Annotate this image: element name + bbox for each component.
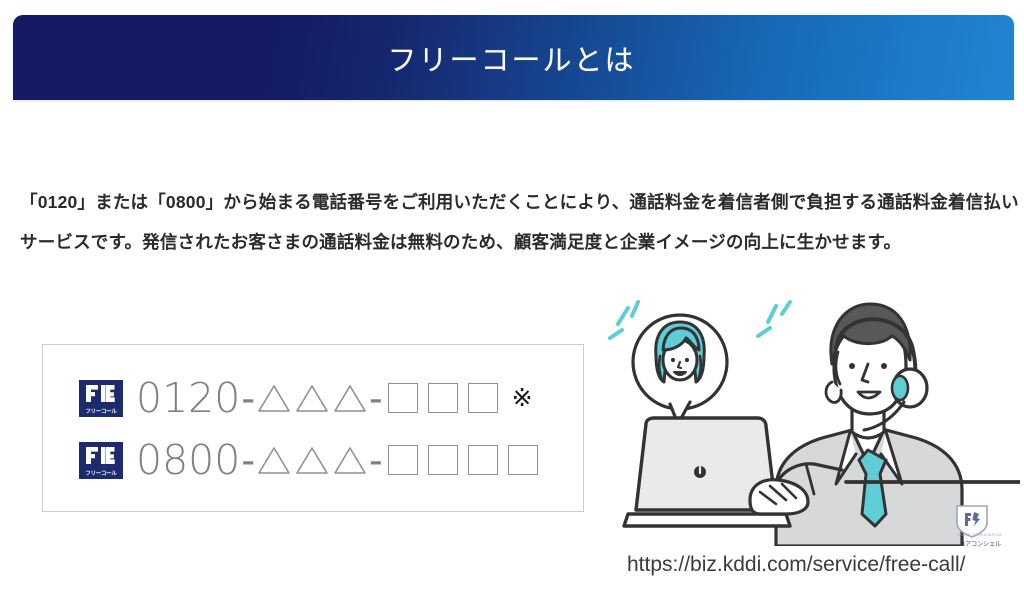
- phone-prefix-0120: 0120: [136, 378, 240, 419]
- square-icon: [428, 383, 458, 413]
- core-concierge-logo: CORE CONCIERGE コアコンシェル: [952, 503, 1008, 551]
- square-icon: [468, 383, 498, 413]
- free-call-logo-icon: フリーコール: [79, 442, 123, 479]
- core-concierge-caption-top: CORE CONCIERGE: [949, 532, 1011, 537]
- body-copy-line-1: 「0120」または「0800」から始まる電話番号をご利用いただくことにより、通話…: [20, 182, 1010, 222]
- triangle-group-0120: [256, 383, 368, 413]
- triangle-icon: [295, 445, 329, 475]
- triangle-icon: [295, 383, 329, 413]
- header-banner: フリーコールとは: [13, 15, 1014, 100]
- free-call-logo-icon: フリーコール: [79, 380, 123, 417]
- phone-prefix-0800: 0800: [136, 440, 240, 481]
- body-copy-line-2: サービスです。発信されたお客さまの通話料金は無料のため、顧客満足度と企業イメージ…: [20, 222, 1010, 262]
- square-icon: [468, 445, 498, 475]
- square-icon: [428, 445, 458, 475]
- phone-number-row-0120: フリーコール 0120 - - ※: [79, 371, 533, 425]
- page-title: フリーコールとは: [387, 37, 635, 79]
- body-copy: 「0120」または「0800」から始まる電話番号をご利用いただくことにより、通話…: [20, 182, 1010, 262]
- phone-dash-1: -: [240, 440, 256, 481]
- service-url[interactable]: https://biz.kddi.com/service/free-call/: [627, 553, 965, 577]
- phone-dash-2: -: [368, 440, 384, 481]
- triangle-icon: [257, 383, 291, 413]
- triangle-icon: [333, 383, 367, 413]
- square-group-0120: [384, 383, 502, 413]
- triangle-group-0800: [256, 445, 368, 475]
- square-group-0800: [384, 445, 542, 475]
- free-call-logo-label: フリーコール: [79, 469, 123, 479]
- triangle-icon: [257, 445, 291, 475]
- phone-dash-2: -: [368, 378, 384, 419]
- phone-number-box: フリーコール 0120 - - ※: [42, 344, 584, 512]
- square-icon: [388, 445, 418, 475]
- phone-dash-1: -: [240, 378, 256, 419]
- note-mark-icon: ※: [512, 386, 533, 411]
- square-icon: [388, 383, 418, 413]
- triangle-icon: [333, 445, 367, 475]
- phone-number-row-0800: フリーコール 0800 - -: [79, 433, 542, 487]
- core-concierge-caption: コアコンシェル: [949, 539, 1011, 548]
- square-icon: [508, 445, 538, 475]
- free-call-logo-label: フリーコール: [79, 407, 123, 417]
